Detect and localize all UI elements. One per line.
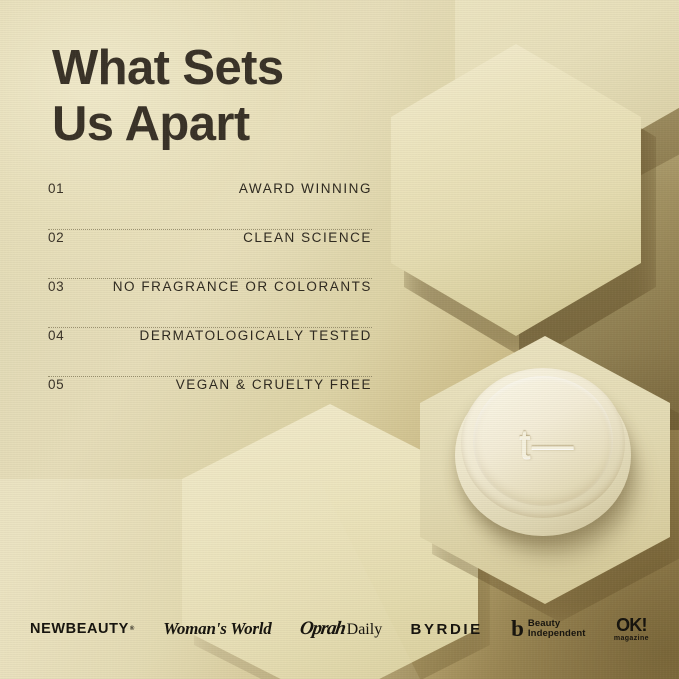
list-item: 01 AWARD WINNING: [48, 181, 372, 211]
list-item-number: 04: [48, 328, 64, 343]
brand-mark-icon: t—: [519, 422, 609, 468]
press-logo-oprah-daily: Oprah Daily: [300, 618, 382, 640]
press-logo-newbeauty-text: NEWBEAUTY: [30, 621, 129, 637]
press-logo-byrdie-text: BYRDIE: [411, 621, 483, 638]
press-logo-ok-magazine: OK! magazine: [614, 616, 649, 642]
list-item-label: DERMATOLOGICALLY TESTED: [140, 328, 372, 343]
list-item: 02 CLEAN SCIENCE: [48, 230, 372, 260]
list-separator: [48, 358, 372, 377]
list-item-label: NO FRAGRANCE OR COLORANTS: [113, 279, 372, 294]
press-logo-newbeauty: NEWBEAUTY®: [30, 621, 135, 637]
list-item-label: AWARD WINNING: [239, 181, 372, 196]
press-logo-beauty-independent-lines: Beauty Independent: [528, 619, 586, 640]
beauty-independent-b-icon: b: [511, 619, 524, 639]
press-logo-beauty-independent: b Beauty Independent: [511, 619, 585, 640]
list-item-number: 02: [48, 230, 64, 245]
press-logo-oprah-script: Oprah: [298, 618, 346, 640]
press-logo-byrdie: BYRDIE: [411, 621, 483, 638]
registered-trademark-icon: ®: [130, 626, 135, 632]
list-item-label: VEGAN & CRUELTY FREE: [176, 377, 372, 392]
list-item-number: 01: [48, 181, 64, 196]
list-item-number: 05: [48, 377, 64, 392]
list-item-number: 03: [48, 279, 64, 294]
list-item-label: CLEAN SCIENCE: [243, 230, 372, 245]
press-logo-oprah-daily-text: Daily: [347, 621, 383, 639]
list-item: 05 VEGAN & CRUELTY FREE: [48, 377, 372, 407]
list-item: 04 DERMATOLOGICALLY TESTED: [48, 328, 372, 358]
press-logo-beauty-independent-line2: Independent: [528, 629, 586, 640]
feature-list: 01 AWARD WINNING 02 CLEAN SCIENCE 03 NO …: [48, 181, 372, 407]
jar-lid: t—: [473, 376, 613, 506]
list-separator: [48, 211, 372, 230]
list-separator: [48, 309, 372, 328]
list-item: 03 NO FRAGRANCE OR COLORANTS: [48, 279, 372, 309]
press-logo-womans-world-text: Woman's World: [163, 619, 271, 639]
press-logo-ok-text: OK!: [616, 616, 647, 634]
press-logo-womans-world: Woman's World: [163, 619, 271, 639]
product-marketing-image: t— What Sets Us Apart 01 AWARD WINNING 0…: [0, 0, 679, 679]
product-jar: t—: [455, 368, 631, 536]
page-title: What Sets Us Apart: [52, 40, 412, 152]
press-logo-bar: NEWBEAUTY® Woman's World Oprah Daily BYR…: [0, 606, 679, 652]
list-separator: [48, 260, 372, 279]
press-logo-ok-subtext: magazine: [614, 635, 649, 642]
